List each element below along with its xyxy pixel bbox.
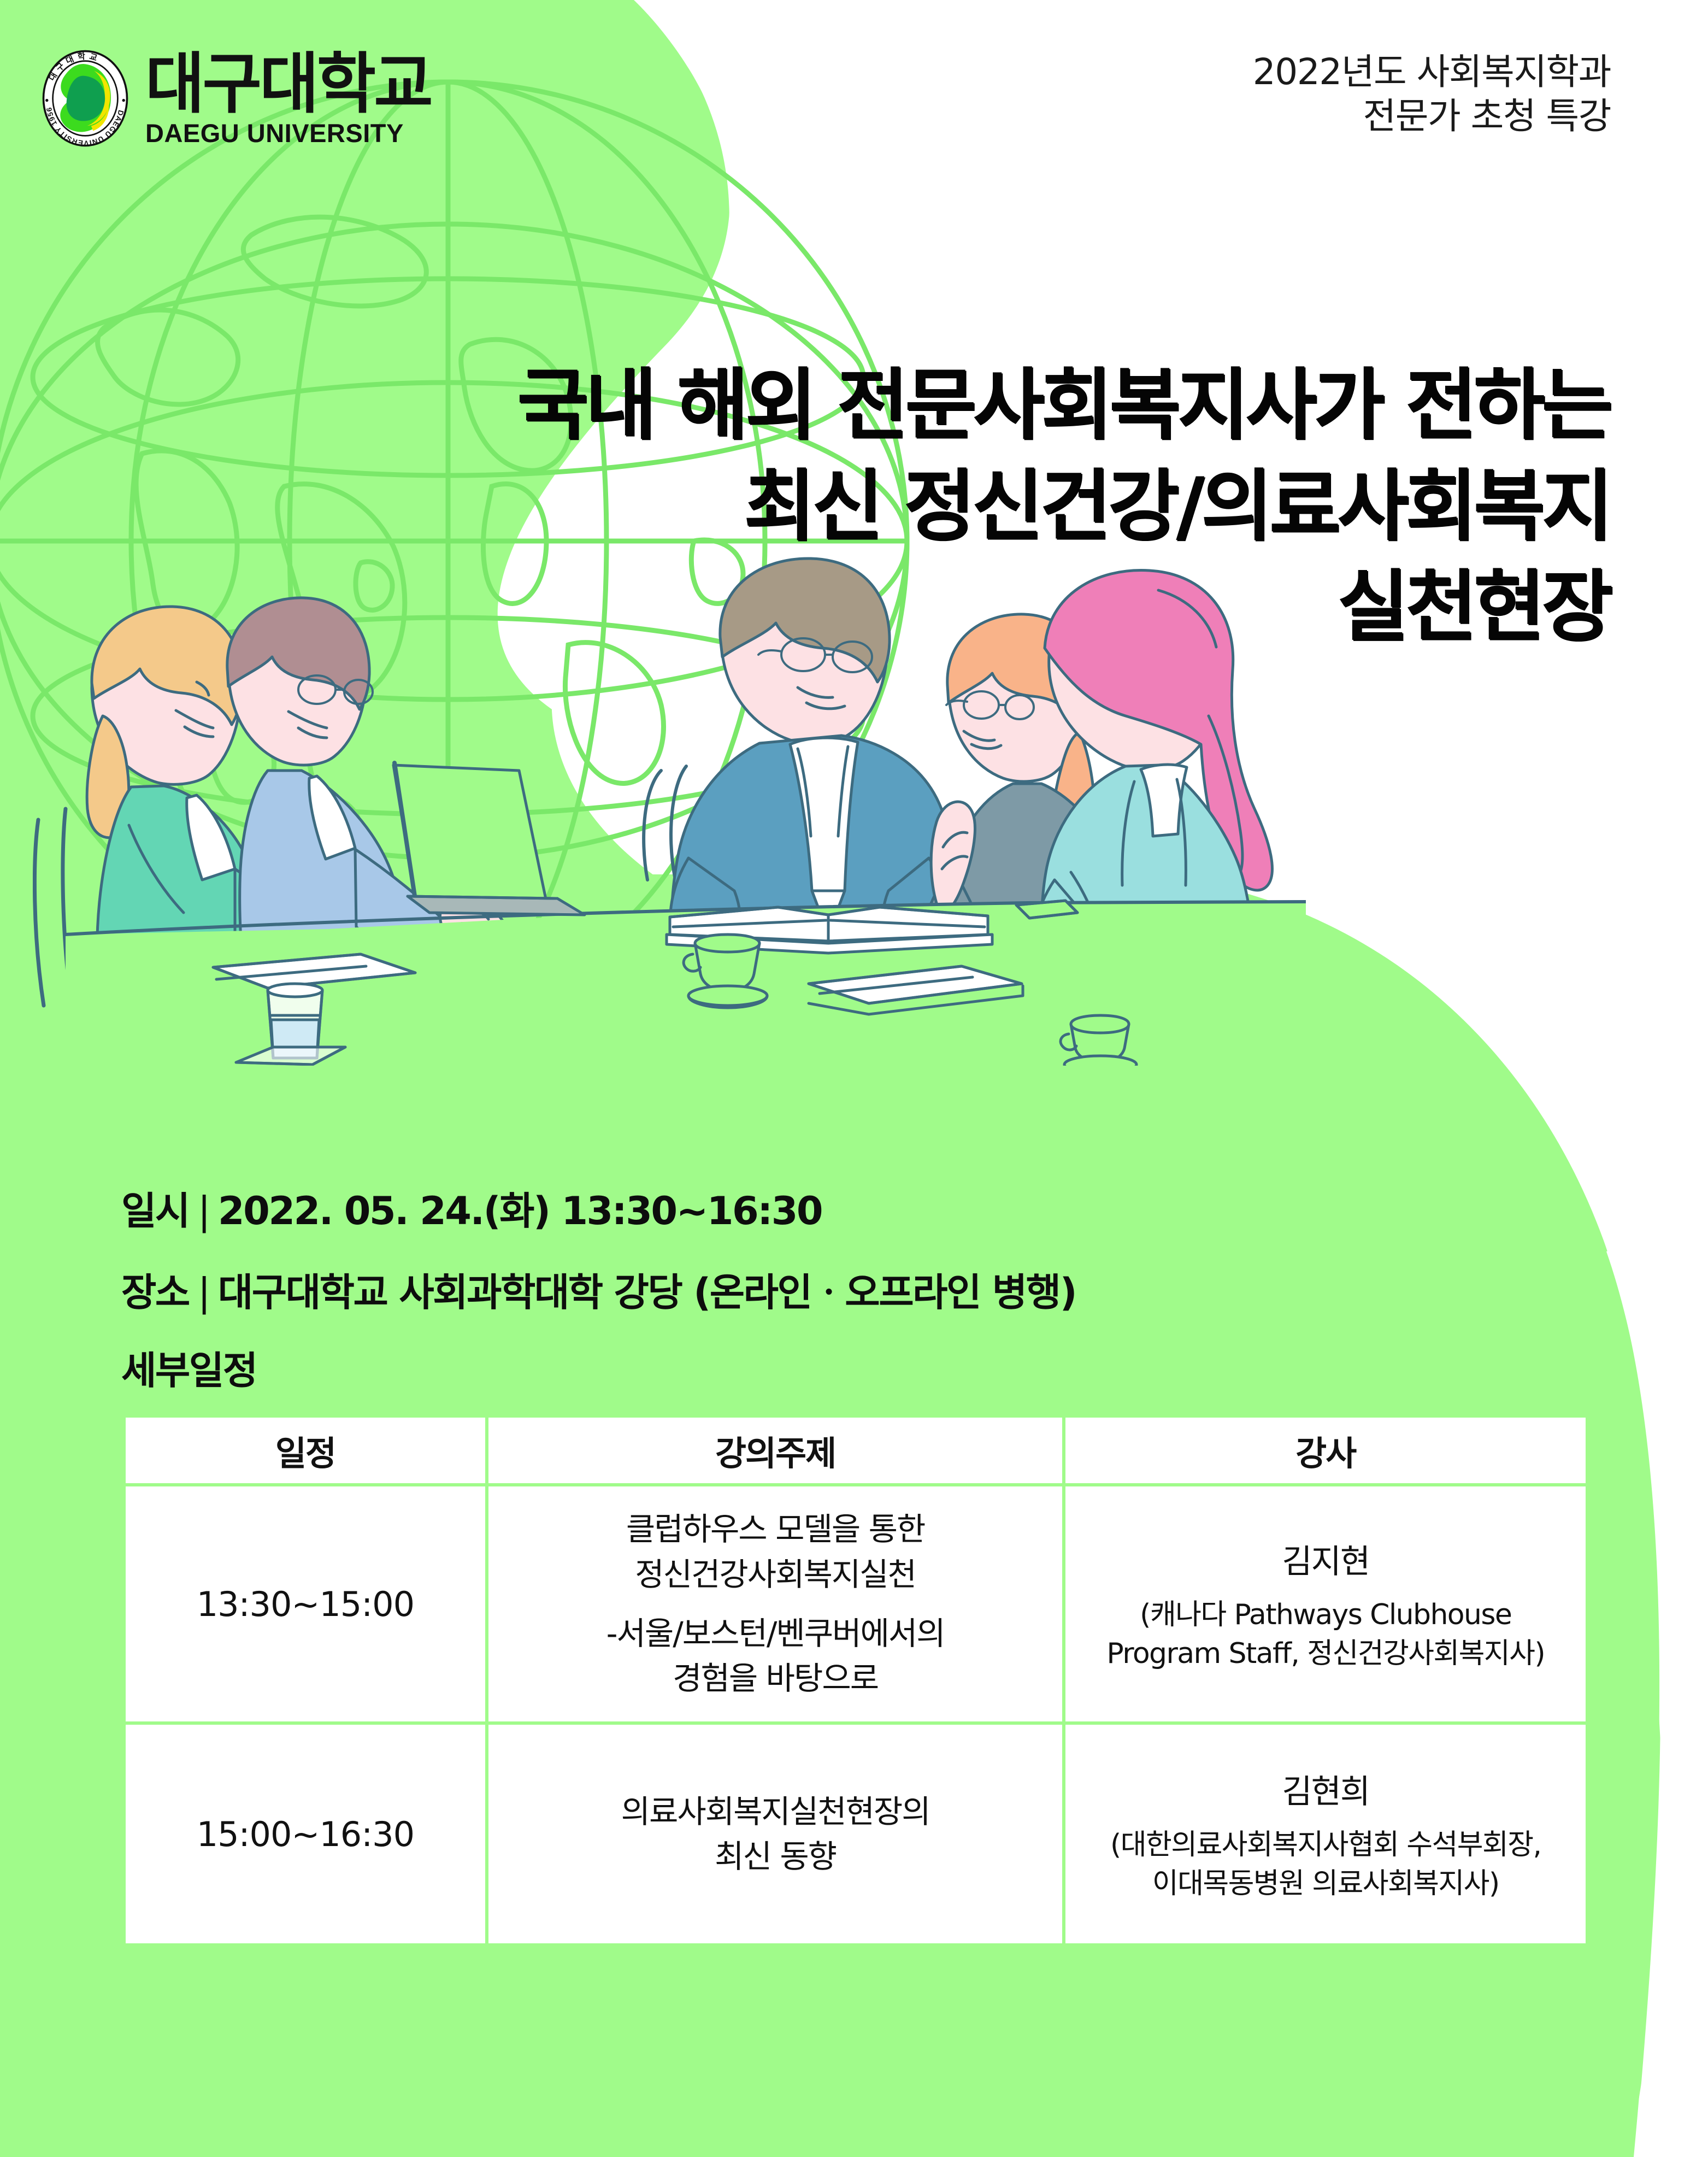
row2-lecturer-affil-line-2: 이대목동병원 의료사회복지사) <box>1074 1865 1577 1903</box>
event-info: 일시 | 2022. 05. 24.(화) 13:30~16:30 장소 | 대… <box>121 1180 1076 1395</box>
row1-lecturer: 김지현 (캐나다 Pathways Clubhouse Program Staf… <box>1065 1486 1586 1721</box>
place-label: 장소 <box>121 1262 189 1317</box>
row2-time: 15:00~16:30 <box>126 1725 485 1943</box>
daegu-university-seal-icon: 대구대학교 DAEGU UNIVERSITY 1956 <box>36 49 134 148</box>
detail-schedule-label: 세부일정 <box>121 1340 1076 1395</box>
table-row: 13:30~15:00 클럽하우스 모델을 통한 정신건강사회복지실천 -서울/… <box>126 1486 1586 1721</box>
place-value: 대구대학교 사회과학대학 강당 (온라인ㆍ오프라인 병행) <box>218 1262 1076 1317</box>
date-label: 일시 <box>121 1180 189 1236</box>
poster-canvas: 대구대학교 DAEGU UNIVERSITY 1956 대구대학교 DAEGU … <box>0 0 1708 2157</box>
event-date-line: 일시 | 2022. 05. 24.(화) 13:30~16:30 <box>121 1180 1076 1236</box>
schedule-table: 일정 강의주제 강사 13:30~15:00 클럽하우스 모델을 통한 정신건강… <box>122 1414 1589 1947</box>
row2-lecturer-affil-line-1: (대한의료사회복지사협회 수석부회장, <box>1074 1826 1577 1865</box>
header-line-2: 전문가 초청 특강 <box>1253 95 1611 139</box>
table-header-schedule: 일정 <box>126 1418 485 1483</box>
table-row: 15:00~16:30 의료사회복지실천현장의 최신 동향 김현희 (대한의료사… <box>126 1725 1586 1943</box>
title-line-1: 국내 해외 전문사회복지사가 전하는 <box>517 355 1610 456</box>
row2-lecturer: 김현희 (대한의료사회복지사협회 수석부회장, 이대목동병원 의료사회복지사) <box>1065 1725 1586 1943</box>
row1-time: 13:30~15:00 <box>126 1486 485 1721</box>
page-title: 국내 해외 전문사회복지사가 전하는 최신 정신건강/의료사회복지 실천현장 <box>517 355 1610 658</box>
row1-topic-line-4: 경험을 바탕으로 <box>497 1656 1054 1701</box>
row1-topic-line-2: 정신건강사회복지실천 <box>497 1552 1054 1597</box>
row1-lecturer-affil-line-1: (캐나다 Pathways Clubhouse <box>1074 1596 1577 1635</box>
header-subtitle: 2022년도 사회복지학과 전문가 초청 특강 <box>1253 50 1611 138</box>
topic-spacer <box>497 1597 1054 1611</box>
header-line-1: 2022년도 사회복지학과 <box>1253 50 1611 95</box>
row1-topic-line-1: 클럽하우스 모델을 통한 <box>497 1507 1054 1551</box>
row1-topic: 클럽하우스 모델을 통한 정신건강사회복지실천 -서울/보스턴/벤쿠버에서의 경… <box>488 1486 1063 1721</box>
row2-lecturer-name: 김현희 <box>1074 1765 1577 1813</box>
row1-lecturer-affil-line-2: Program Staff, 정신건강사회복지사) <box>1074 1635 1577 1673</box>
logo: 대구대학교 DAEGU UNIVERSITY 1956 대구대학교 DAEGU … <box>36 49 431 148</box>
table-header-topic: 강의주제 <box>488 1418 1063 1483</box>
table-header-row: 일정 강의주제 강사 <box>126 1418 1586 1483</box>
logo-name-en: DAEGU UNIVERSITY <box>145 120 431 146</box>
table-header-lecturer: 강사 <box>1065 1418 1586 1483</box>
place-separator: | <box>198 1270 209 1315</box>
logo-name-ko: 대구대학교 <box>145 50 431 116</box>
row1-topic-line-3: -서울/보스턴/벤쿠버에서의 <box>497 1611 1054 1656</box>
event-place-line: 장소 | 대구대학교 사회과학대학 강당 (온라인ㆍ오프라인 병행) <box>121 1262 1076 1317</box>
date-value: 2022. 05. 24.(화) 13:30~16:30 <box>218 1180 822 1236</box>
date-separator: | <box>198 1189 209 1233</box>
row2-topic-line-2: 최신 동향 <box>497 1834 1054 1879</box>
row1-lecturer-name: 김지현 <box>1074 1535 1577 1583</box>
row2-topic: 의료사회복지실천현장의 최신 동향 <box>488 1725 1063 1943</box>
title-line-2: 최신 정신건강/의료사회복지 <box>517 456 1610 557</box>
title-line-3: 실천현장 <box>517 557 1610 658</box>
row2-topic-line-1: 의료사회복지실천현장의 <box>497 1789 1054 1834</box>
